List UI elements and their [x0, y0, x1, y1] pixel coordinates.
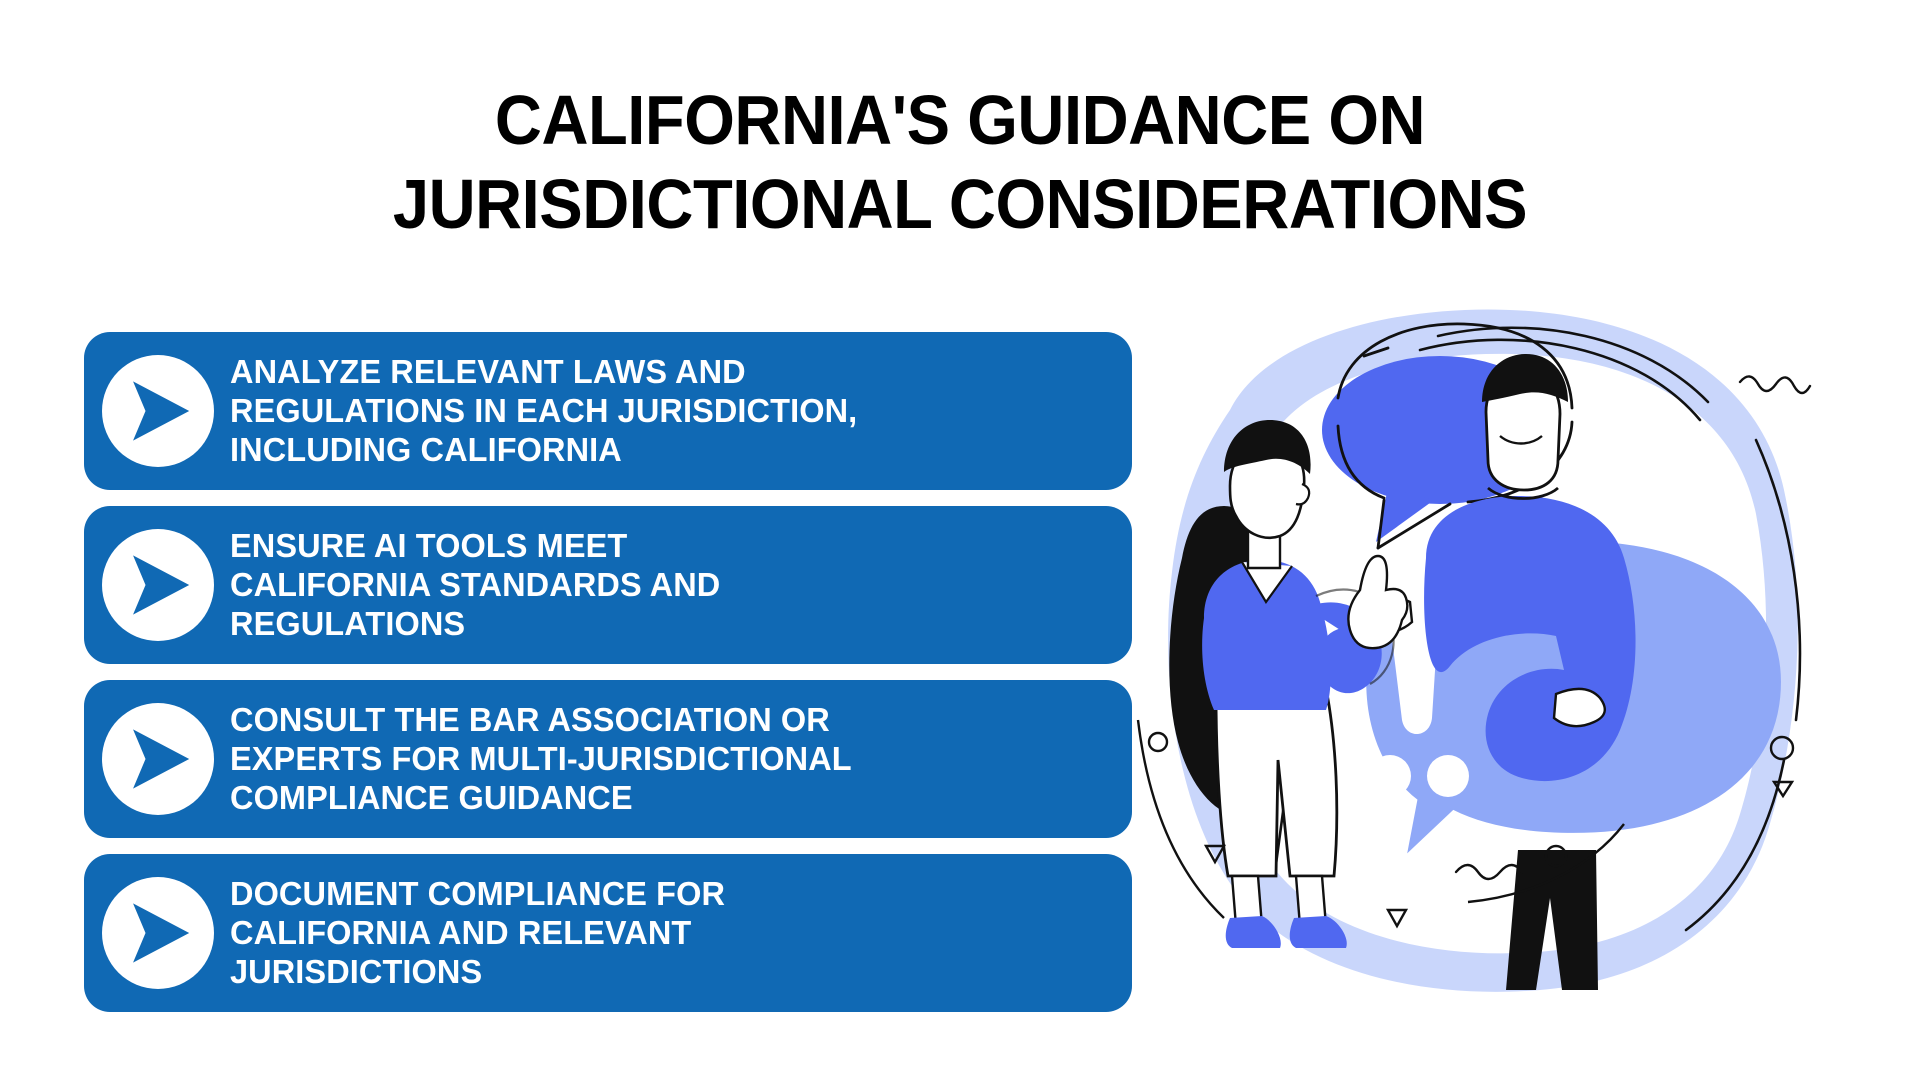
- bullet-card-2-line-2: CALIFORNIA STANDARDS AND: [230, 566, 720, 605]
- bullet-card-4[interactable]: DOCUMENT COMPLIANCE FOR CALIFORNIA AND R…: [84, 854, 1132, 1012]
- bullet-card-4-line-1: DOCUMENT COMPLIANCE FOR: [230, 875, 725, 914]
- infographic-slide: CALIFORNIA'S GUIDANCE ON JURISDICTIONAL …: [0, 0, 1920, 1080]
- bullet-card-2-line-3: REGULATIONS: [230, 605, 720, 644]
- bullet-card-1-line-3: INCLUDING CALIFORNIA: [230, 431, 857, 470]
- bullet-card-3-text: CONSULT THE BAR ASSOCIATION OR EXPERTS F…: [230, 701, 852, 818]
- bullet-card-1-line-1: ANALYZE RELEVANT LAWS AND: [230, 353, 857, 392]
- bullet-card-4-text: DOCUMENT COMPLIANCE FOR CALIFORNIA AND R…: [230, 875, 725, 992]
- bullet-card-3[interactable]: CONSULT THE BAR ASSOCIATION OR EXPERTS F…: [84, 680, 1132, 838]
- arrow-right-dart-icon: [102, 877, 214, 989]
- bullet-card-4-line-3: JURISDICTIONS: [230, 953, 725, 992]
- bullet-card-3-line-3: COMPLIANCE GUIDANCE: [230, 779, 852, 818]
- bullet-card-list: ANALYZE RELEVANT LAWS AND REGULATIONS IN…: [84, 332, 1132, 1012]
- bullet-card-2-text: ENSURE AI TOOLS MEET CALIFORNIA STANDARD…: [230, 527, 720, 644]
- bullet-card-2-line-1: ENSURE AI TOOLS MEET: [230, 527, 720, 566]
- bullet-card-1-line-2: REGULATIONS IN EACH JURISDICTION,: [230, 392, 857, 431]
- black-squiggle-line: [1740, 376, 1810, 393]
- page-title-line-2: JURISDICTIONAL CONSIDERATIONS: [179, 162, 1741, 246]
- arrow-right-dart-icon: [102, 355, 214, 467]
- page-title: CALIFORNIA'S GUIDANCE ON JURISDICTIONAL …: [0, 78, 1920, 246]
- two-people-conversation-illustration: [1120, 290, 1840, 1020]
- small-circle-outline: [1149, 733, 1167, 751]
- arrow-right-dart-icon: [102, 703, 214, 815]
- arrow-right-dart-icon: [102, 529, 214, 641]
- man-head: [1482, 354, 1568, 499]
- page-title-line-1: CALIFORNIA'S GUIDANCE ON: [179, 78, 1741, 162]
- bullet-card-2[interactable]: ENSURE AI TOOLS MEET CALIFORNIA STANDARD…: [84, 506, 1132, 664]
- bullet-card-1-text: ANALYZE RELEVANT LAWS AND REGULATIONS IN…: [230, 353, 857, 470]
- bullet-card-1[interactable]: ANALYZE RELEVANT LAWS AND REGULATIONS IN…: [84, 332, 1132, 490]
- bullet-card-3-line-2: EXPERTS FOR MULTI-JURISDICTIONAL: [230, 740, 852, 779]
- bullet-card-3-line-1: CONSULT THE BAR ASSOCIATION OR: [230, 701, 852, 740]
- bullet-card-4-line-2: CALIFORNIA AND RELEVANT: [230, 914, 725, 953]
